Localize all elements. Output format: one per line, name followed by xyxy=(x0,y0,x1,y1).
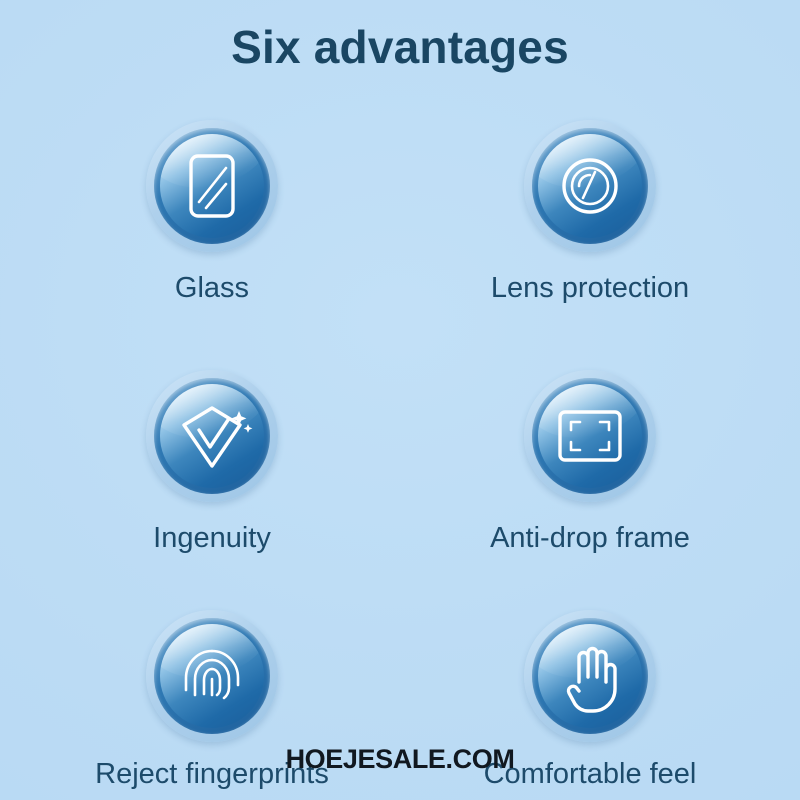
badge-comfortable-feel xyxy=(524,610,656,742)
advantages-infographic: Six advantages Glass xyxy=(0,0,800,800)
diamond-check-icon xyxy=(160,384,264,488)
advantage-item-glass[interactable]: Glass xyxy=(42,120,382,306)
advantage-item-comfortable-feel[interactable]: Comfortable feel xyxy=(420,610,760,792)
advantage-label: Reject fingerprints xyxy=(42,756,382,792)
corner-frame-icon xyxy=(538,384,642,488)
badge-glass xyxy=(146,120,278,252)
camera-lens-icon xyxy=(538,134,642,238)
badge-lens-protection xyxy=(524,120,656,252)
badge-anti-drop-frame xyxy=(524,370,656,502)
advantage-grid: Glass Lens protection xyxy=(0,120,800,800)
glass-screen-icon xyxy=(160,134,264,238)
advantage-label: Anti-drop frame xyxy=(420,520,760,556)
advantage-item-lens-protection[interactable]: Lens protection xyxy=(420,120,760,306)
advantage-label: Ingenuity xyxy=(42,520,382,556)
badge-ingenuity xyxy=(146,370,278,502)
advantage-item-ingenuity[interactable]: Ingenuity xyxy=(42,370,382,556)
advantage-label: Glass xyxy=(42,270,382,306)
badge-reject-fingerprints xyxy=(146,610,278,742)
advantage-item-reject-fingerprints[interactable]: Reject fingerprints xyxy=(42,610,382,792)
open-hand-icon xyxy=(538,624,642,728)
advantage-label: Lens protection xyxy=(420,270,760,306)
page-title: Six advantages xyxy=(0,12,800,82)
advantage-item-anti-drop-frame[interactable]: Anti-drop frame xyxy=(420,370,760,556)
fingerprint-icon xyxy=(160,624,264,728)
advantage-label: Comfortable feel xyxy=(420,756,760,792)
